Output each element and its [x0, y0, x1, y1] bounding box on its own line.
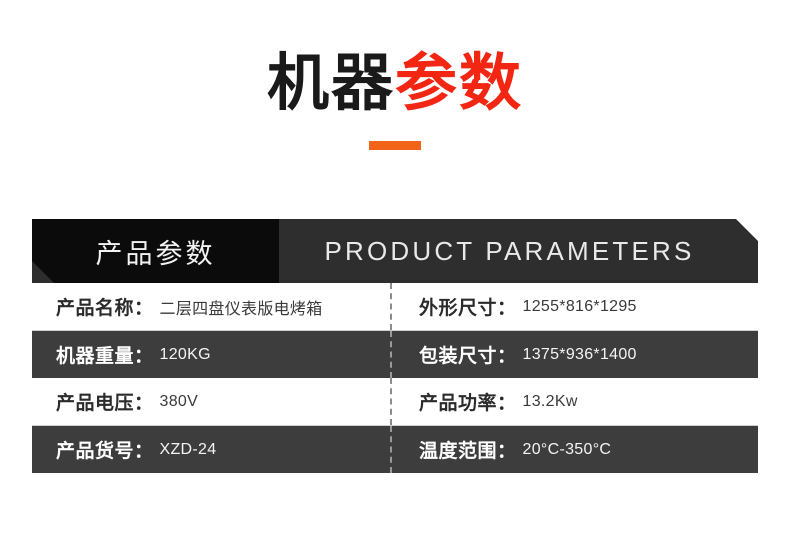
table-header-band: 产品参数 PRODUCT PARAMETERS [32, 219, 758, 283]
parameter-value: 1255*816*1295 [523, 298, 637, 316]
table-row: 产品名称： 二层四盘仪表版电烤箱 外形尺寸： 1255*816*1295 [32, 283, 758, 331]
table-cell-right: 外形尺寸： 1255*816*1295 [395, 283, 758, 330]
table-cell-right: 温度范围： 20°C-350°C [395, 426, 758, 473]
table-header-chinese-block: 产品参数 [32, 219, 279, 283]
table-header-chinese-label: 产品参数 [96, 232, 216, 271]
product-parameters-table: 产品参数 PRODUCT PARAMETERS 产品名称： 二层四盘仪表版电烤箱… [32, 219, 758, 473]
parameter-label: 产品电压： [56, 388, 154, 415]
table-row: 产品货号： XZD-24 温度范围： 20°C-350°C [32, 426, 758, 473]
table-row: 机器重量： 120KG 包装尺寸： 1375*936*1400 [32, 331, 758, 378]
table-cell-left: 机器重量： 120KG [32, 331, 395, 378]
page-title-red-part: 参数 [395, 49, 523, 118]
parameter-value: XZD-24 [160, 441, 217, 459]
table-cell-right: 包装尺寸： 1375*936*1400 [395, 331, 758, 378]
parameter-label: 产品名称： [56, 293, 154, 320]
table-cell-left: 产品电压： 380V [32, 378, 395, 425]
table-cell-right: 产品功率： 13.2Kw [395, 378, 758, 425]
table-cell-left: 产品名称： 二层四盘仪表版电烤箱 [32, 283, 395, 330]
parameter-label: 机器重量： [56, 341, 154, 368]
parameter-value: 1375*936*1400 [523, 346, 637, 364]
table-row: 产品电压： 380V 产品功率： 13.2Kw [32, 378, 758, 426]
table-header-english-block: PRODUCT PARAMETERS [279, 219, 758, 283]
title-underline-bar [369, 141, 421, 150]
parameter-value: 20°C-350°C [523, 441, 612, 459]
page-title-block: 机器参数 [0, 48, 790, 150]
parameter-value: 13.2Kw [523, 393, 578, 411]
parameter-label: 包装尺寸： [419, 341, 517, 368]
page-title: 机器参数 [0, 48, 790, 120]
parameter-label: 外形尺寸： [419, 293, 517, 320]
table-header-english-label: PRODUCT PARAMETERS [324, 236, 694, 267]
parameter-value: 120KG [160, 346, 211, 364]
parameter-label: 温度范围： [419, 436, 517, 463]
parameter-label: 产品货号： [56, 436, 154, 463]
page-title-black-part: 机器 [267, 49, 395, 118]
table-body: 产品名称： 二层四盘仪表版电烤箱 外形尺寸： 1255*816*1295 机器重… [32, 283, 758, 473]
parameter-value: 二层四盘仪表版电烤箱 [160, 295, 323, 319]
parameter-label: 产品功率： [419, 388, 517, 415]
parameter-value: 380V [160, 393, 199, 411]
table-cell-left: 产品货号： XZD-24 [32, 426, 395, 473]
